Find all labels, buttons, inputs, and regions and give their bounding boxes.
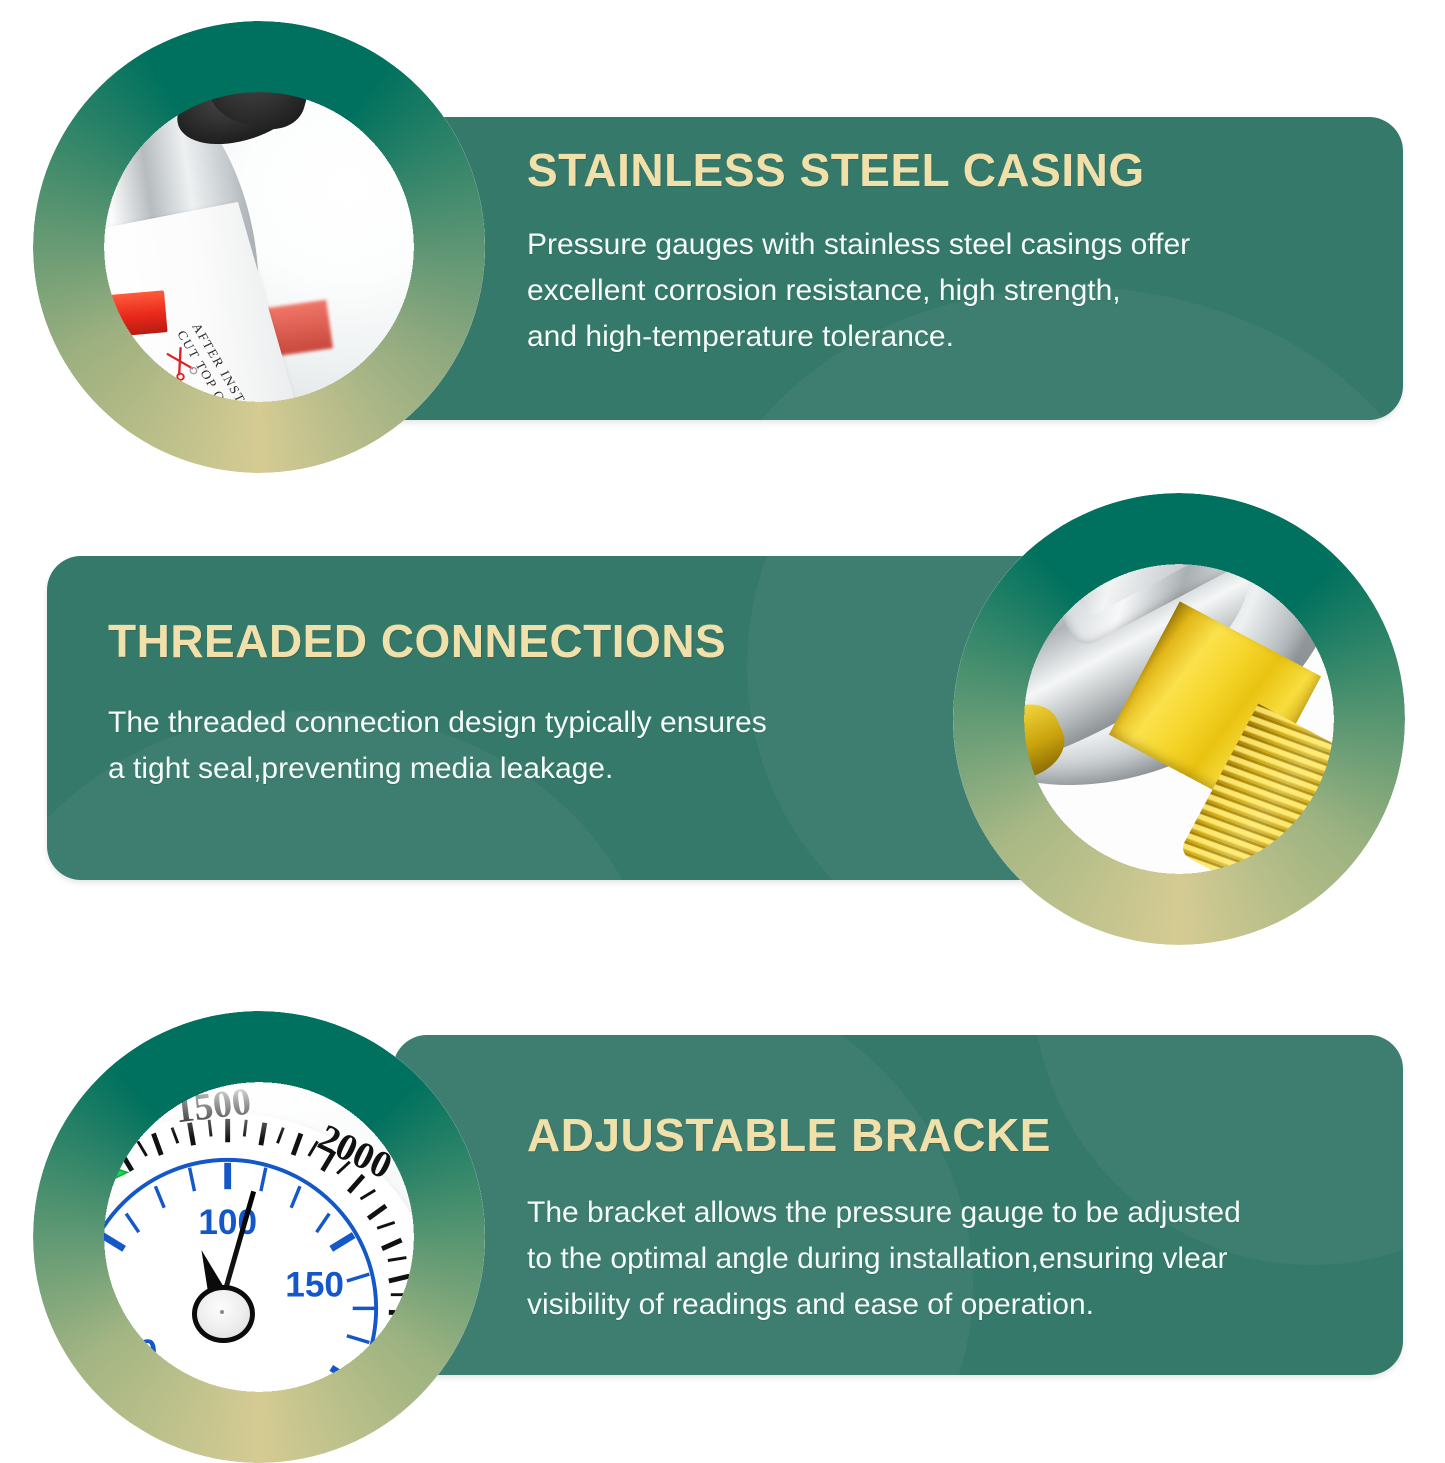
photo-inner-threads (957, 497, 1401, 941)
feature-title-adjustable-bracket: ADJUSTABLE BRACKE (527, 1108, 1051, 1162)
feature-image-adjustable-bracket: 1500 2000 (33, 1011, 485, 1463)
feature-title-threaded-connections: THREADED CONNECTIONS (108, 614, 726, 668)
feature-body-adjustable-bracket: The bracket allows the pressure gauge to… (527, 1190, 1357, 1328)
svg-text:150: 150 (286, 1265, 345, 1304)
svg-text:200: 200 (265, 1396, 324, 1435)
green-arrow-marker (37, 1148, 139, 1197)
red-pull-strap-fold (62, 332, 93, 361)
gauge-outer-number-1500: 1500 (172, 1079, 253, 1132)
feature-image-threaded-connections (953, 493, 1405, 945)
svg-text:50: 50 (119, 1333, 158, 1372)
photo-inner-stainless: AFTER INSTALLA CUT TOP OF GA (37, 25, 481, 469)
feature-body-threaded-connections: The threaded connection design typically… (108, 700, 928, 792)
red-arrow-marker (379, 1077, 477, 1135)
feature-image-stainless-steel-casing: AFTER INSTALLA CUT TOP OF GA (33, 21, 485, 473)
gauge-needle-hub (192, 1285, 255, 1344)
photo-inner-dial: 1500 2000 (37, 1015, 481, 1459)
feature-title-stainless-steel-casing: STAINLESS STEEL CASING (527, 143, 1145, 197)
feature-body-stainless-steel-casing: Pressure gauges with stainless steel cas… (527, 222, 1327, 360)
product-feature-infographic: { "theme": { "panel_color": "#35796B", "… (0, 0, 1445, 1445)
